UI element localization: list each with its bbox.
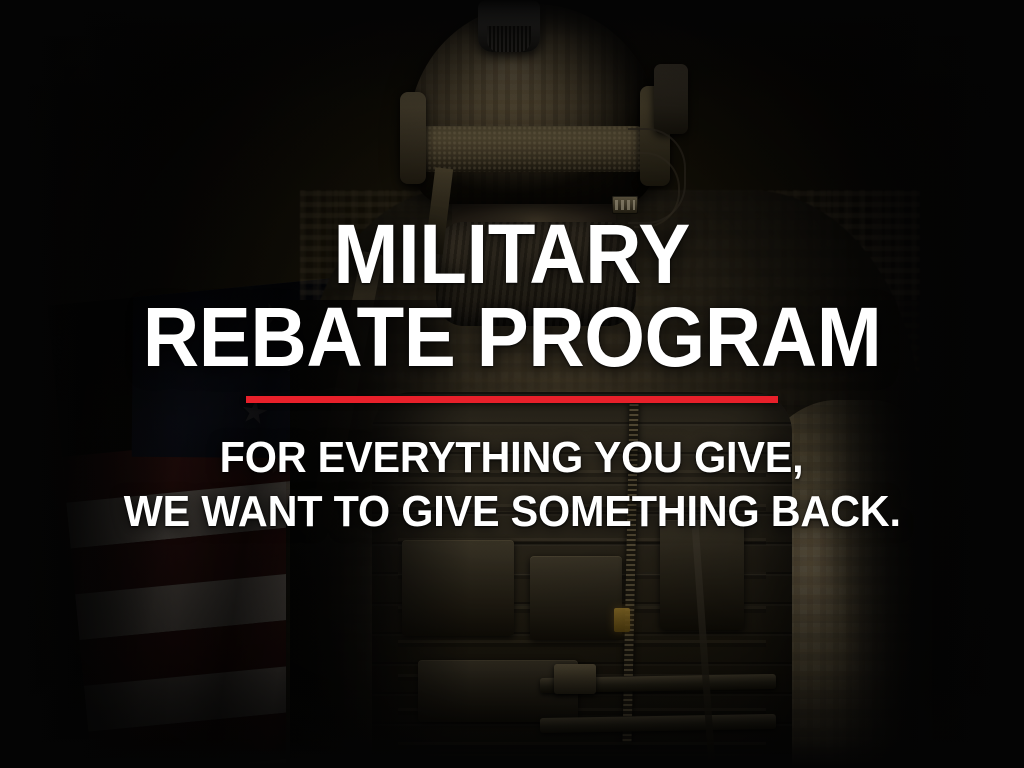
subtitle-line-2: WE WANT TO GIVE SOMETHING BACK. xyxy=(124,490,901,535)
poster: ★★★★★★★★★★ xyxy=(0,0,1024,768)
headline-line-1: MILITARY xyxy=(334,214,690,295)
poster-text-content: MILITARY REBATE PROGRAM FOR EVERYTHING Y… xyxy=(0,0,1024,768)
subtitle-line-1: FOR EVERYTHING YOU GIVE, xyxy=(220,436,804,481)
red-divider-rule xyxy=(246,396,778,403)
headline-line-2: REBATE PROGRAM xyxy=(143,297,882,378)
